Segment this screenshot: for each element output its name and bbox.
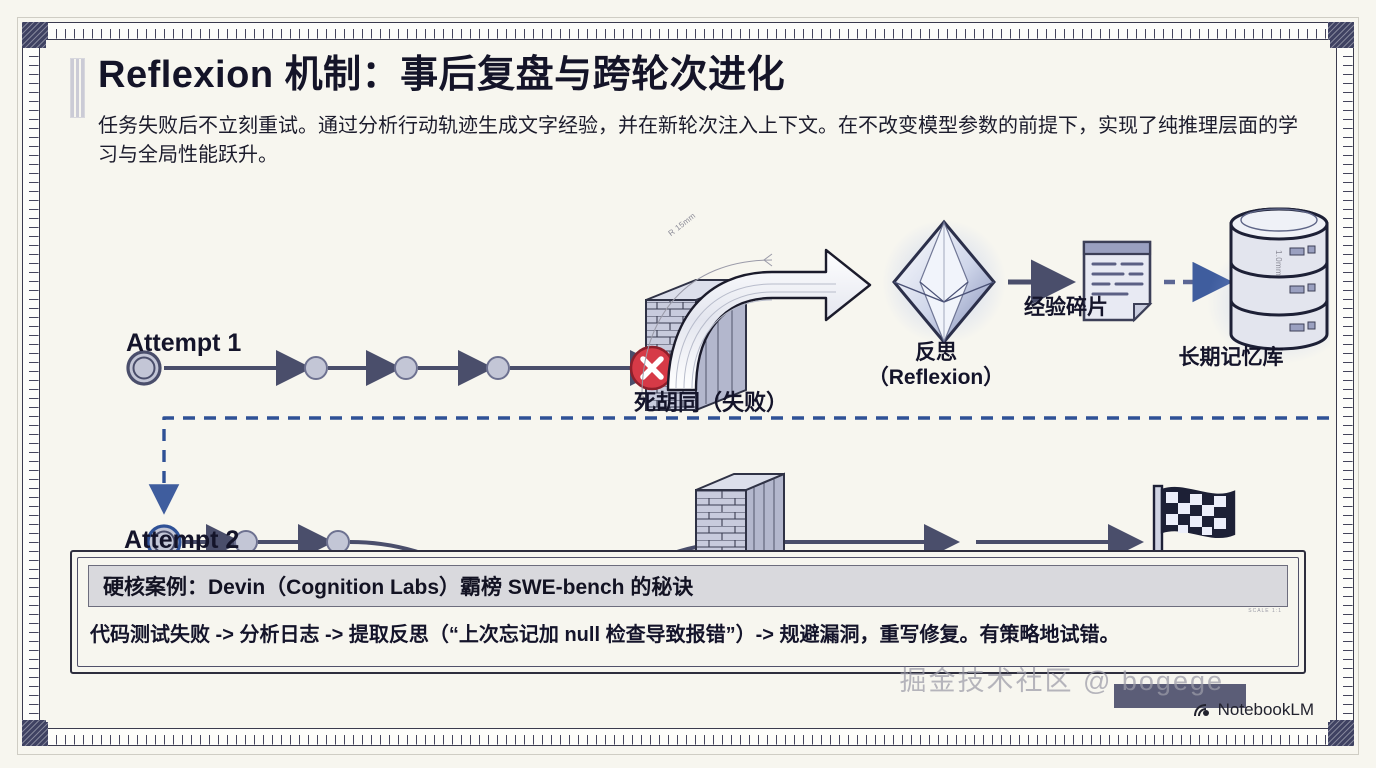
memory-store-icon bbox=[1207, 209, 1330, 364]
reflexion-diamond bbox=[882, 220, 1006, 344]
memory-store-label: 长期记忆库 bbox=[1131, 345, 1331, 370]
reflexion-label: 反思 （Reflexion） bbox=[836, 340, 1036, 390]
dimension-height-note: 1.0mm bbox=[1274, 250, 1283, 276]
ruler-right bbox=[1336, 46, 1354, 722]
ruler-bottom bbox=[46, 728, 1330, 746]
page-title: Reflexion 机制：事后复盘与跨轮次进化 bbox=[98, 54, 1310, 98]
notebooklm-badge: NotebookLM bbox=[1193, 700, 1314, 720]
page-subtitle: 任务失败后不立刻重试。通过分析行动轨迹生成文字经验，并在新轮次注入上下文。在不改… bbox=[98, 112, 1310, 170]
corner-marker-top-left bbox=[22, 22, 48, 48]
dead-end-label: 死胡同（失败） bbox=[601, 390, 821, 416]
case-study-body: 代码测试失败 -> 分析日志 -> 提取反思（“上次忘记加 null 检查导致报… bbox=[90, 618, 1286, 647]
attempt1-label: Attempt 1 bbox=[126, 328, 241, 358]
case-study-heading: 硬核案例：Devin（Cognition Labs）霸榜 SWE-bench 的… bbox=[103, 571, 693, 601]
ruler-top bbox=[46, 22, 1330, 40]
case-study-box: 硬核案例：Devin（Cognition Labs）霸榜 SWE-bench 的… bbox=[70, 550, 1306, 674]
reflexion-diagram: Attempt 1 Attempt 2 死胡同（失败） 反思 （Reflexio… bbox=[46, 190, 1330, 590]
experience-fragment-label: 经验碎片 bbox=[976, 295, 1156, 320]
notebooklm-icon bbox=[1193, 703, 1212, 718]
case-study-heading-bar: 硬核案例：Devin（Cognition Labs）霸榜 SWE-bench 的… bbox=[88, 565, 1288, 607]
slide-root: Reflexion 机制：事后复盘与跨轮次进化 任务失败后不立刻重试。通过分析行… bbox=[0, 0, 1376, 768]
slide-header: Reflexion 机制：事后复盘与跨轮次进化 任务失败后不立刻重试。通过分析行… bbox=[72, 54, 1310, 170]
slide-canvas: Reflexion 机制：事后复盘与跨轮次进化 任务失败后不立刻重试。通过分析行… bbox=[46, 40, 1330, 722]
reflexion-label-line2: （Reflexion） bbox=[836, 365, 1036, 390]
failure-marker bbox=[631, 347, 673, 389]
title-accent-bars bbox=[70, 58, 85, 118]
corner-marker-bottom-right bbox=[1328, 720, 1354, 746]
ruler-left bbox=[22, 46, 40, 722]
case-study-scale-note: SCALE 1:1 bbox=[1248, 608, 1282, 614]
community-watermark: 掘金技术社区 @ bogege bbox=[899, 659, 1224, 698]
corner-marker-bottom-left bbox=[22, 720, 48, 746]
corner-marker-top-right bbox=[1328, 22, 1354, 48]
notebooklm-label: NotebookLM bbox=[1218, 700, 1314, 720]
reflexion-label-line1: 反思 bbox=[836, 340, 1036, 365]
